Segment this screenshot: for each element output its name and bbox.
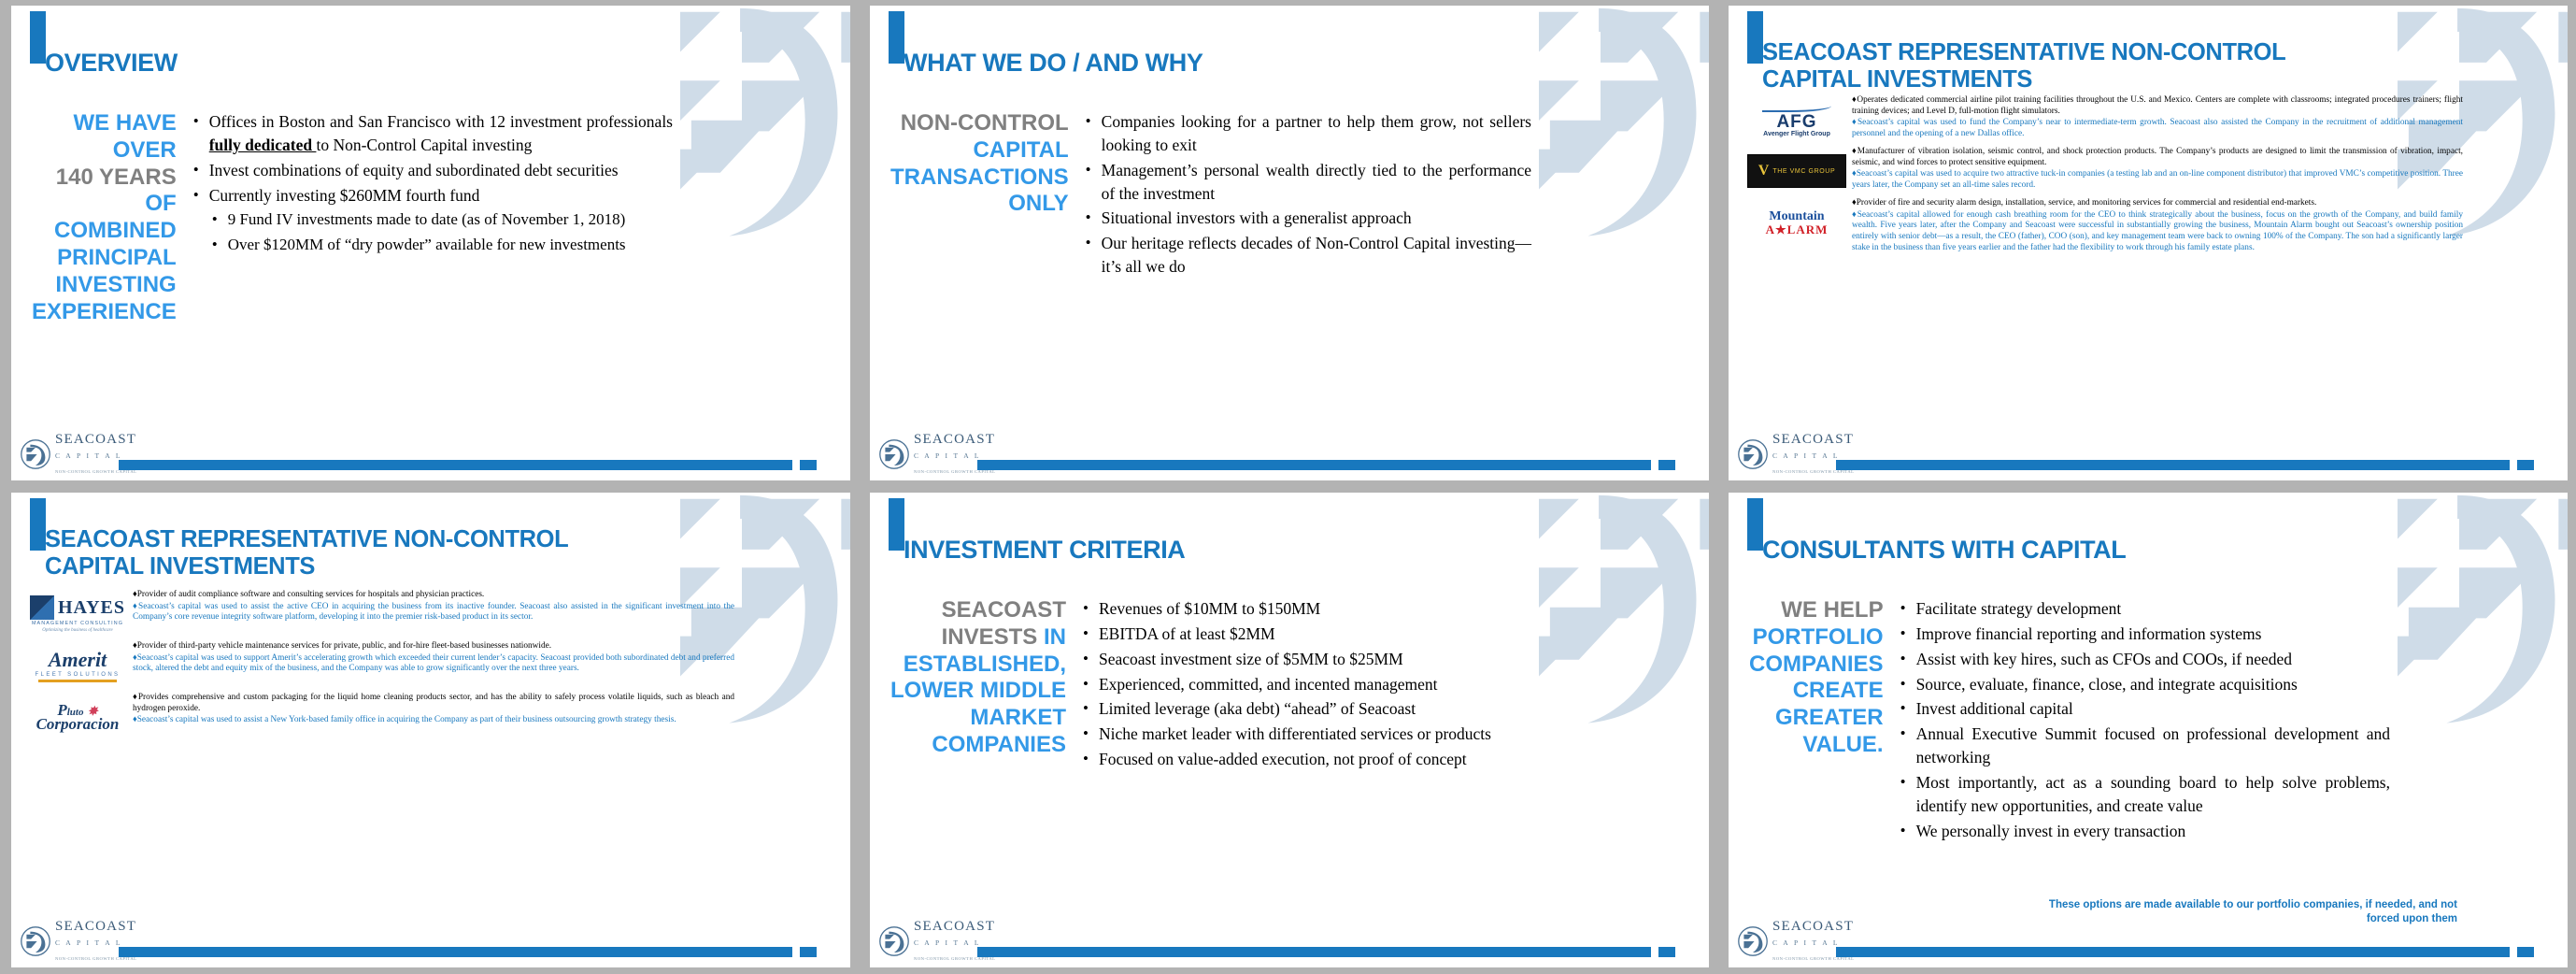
slide-callout: WE HELPPORTFOLIOCOMPANIESCREATEGREATERVA… bbox=[1749, 597, 1894, 759]
bullet-item: Niche market leader with differentiated … bbox=[1099, 723, 1531, 746]
logo-subtitle: C A P I T A L bbox=[55, 451, 122, 460]
afg-logo: AFGAvenger Flight Group bbox=[1742, 95, 1852, 144]
slide-thumbnail-3[interactable]: SEACOAST REPRESENTATIVE NON-CONTROL CAPI… bbox=[1717, 0, 2576, 487]
footer-blue-bar bbox=[119, 460, 792, 470]
footer-blue-bar bbox=[977, 947, 1651, 957]
callout-line: CREATE bbox=[1749, 678, 1884, 705]
title-accent-bar bbox=[1747, 498, 1763, 551]
bullet-item: Source, evaluate, finance, close, and in… bbox=[1916, 673, 2390, 696]
bullet-item: Our heritage reflects decades of Non-Con… bbox=[1102, 232, 1531, 279]
slide-footnote: These options are made available to our … bbox=[2046, 898, 2457, 926]
bullet-item: Invest additional capital bbox=[1916, 697, 2390, 721]
callout-line: PORTFOLIO bbox=[1749, 624, 1884, 652]
callout-line: WE HELP bbox=[1749, 597, 1884, 624]
footer-blue-square bbox=[2517, 947, 2534, 957]
slide-bullets: Facilitate strategy developmentImprove f… bbox=[1894, 597, 2390, 844]
portfolio-row: AmeritFLEET SOLUTIONSProvider of third-p… bbox=[22, 641, 734, 690]
portfolio-list: HAYESMANAGEMENT CONSULTINGOptimizing the… bbox=[22, 590, 734, 926]
title-accent-bar bbox=[889, 11, 904, 64]
seacoast-watermark-icon bbox=[2398, 493, 2568, 967]
slide-callout: WE HAVEOVER140 YEARSOFCOMBINEDPRINCIPALI… bbox=[32, 110, 187, 325]
footer-blue-square bbox=[800, 947, 817, 957]
slide-surface: INVESTMENT CRITERIASEACOASTINVESTS INEST… bbox=[870, 493, 1709, 967]
callout-line: NON-CONTROL bbox=[890, 110, 1069, 137]
logo-name: SEACOAST bbox=[914, 432, 995, 447]
portfolio-text: Manufacturer of vibration isolation, sei… bbox=[1852, 147, 2463, 193]
bullet-list: Revenues of $10MM to $150MMEBITDA of at … bbox=[1080, 597, 1531, 771]
slide-thumbnail-1[interactable]: OVERVIEWWE HAVEOVER140 YEARSOFCOMBINEDPR… bbox=[0, 0, 859, 487]
portfolio-text: Provider of fire and security alarm desi… bbox=[1852, 198, 2463, 255]
seacoast-watermark-icon bbox=[1539, 6, 1709, 480]
bullet-item: Limited leverage (aka debt) “ahead” of S… bbox=[1099, 697, 1531, 721]
callout-line: INVESTS IN bbox=[890, 624, 1066, 652]
footer-blue-bar bbox=[1836, 460, 2510, 470]
logo-subtitle: C A P I T A L bbox=[914, 451, 981, 460]
callout-line: VALUE. bbox=[1749, 732, 1884, 759]
bullet-item: Facilitate strategy development bbox=[1916, 597, 2390, 621]
slide-callout: SEACOASTINVESTS INESTABLISHED,LOWER MIDD… bbox=[890, 597, 1076, 759]
slide-bullets: Revenues of $10MM to $150MMEBITDA of at … bbox=[1076, 597, 1531, 773]
callout-line: ESTABLISHED, bbox=[890, 652, 1066, 679]
slide-title: INVESTMENT CRITERIA bbox=[904, 536, 1520, 564]
seacoast-watermark-icon bbox=[1539, 493, 1709, 967]
bullet-item: Annual Executive Summit focused on profe… bbox=[1916, 723, 2390, 769]
callout-line: INVESTING bbox=[32, 272, 177, 299]
callout-line: TRANSACTIONS bbox=[890, 165, 1069, 192]
bullet-list: Offices in Boston and San Francisco with… bbox=[191, 110, 673, 256]
slide-body: NON-CONTROLCAPITALTRANSACTIONSONLYCompan… bbox=[890, 110, 1531, 437]
portfolio-text: Operates dedicated commercial airline pi… bbox=[1852, 95, 2463, 141]
bullet-item: Experienced, committed, and incented man… bbox=[1099, 673, 1531, 696]
slide-footer: SEACOASTC A P I T A LNON-CONTROL GROWTH … bbox=[11, 930, 850, 967]
sub-bullet-list: 9 Fund IV investments made to date (as o… bbox=[209, 208, 673, 255]
bullet-item: Revenues of $10MM to $150MM bbox=[1099, 597, 1531, 621]
slide-deck-grid: OVERVIEWWE HAVEOVER140 YEARSOFCOMBINEDPR… bbox=[0, 0, 2576, 974]
title-accent-bar bbox=[1747, 11, 1763, 64]
pluto-logo: Pluto ✸Corporacion bbox=[22, 693, 133, 741]
slide-footer: SEACOASTC A P I T A LNON-CONTROL GROWTH … bbox=[1729, 443, 2568, 480]
callout-line: COMPANIES bbox=[890, 732, 1066, 759]
bullet-item: Seacoast investment size of $5MM to $25M… bbox=[1099, 648, 1531, 671]
portfolio-note: Seacoast’s capital was used to fund the … bbox=[1852, 118, 2463, 139]
seacoast-swoosh-icon bbox=[879, 926, 909, 956]
amerit-logo: AmeritFLEET SOLUTIONS bbox=[22, 641, 133, 690]
slide-surface: SEACOAST REPRESENTATIVE NON-CONTROL CAPI… bbox=[11, 493, 850, 967]
logo-subtitle: C A P I T A L bbox=[914, 938, 981, 947]
callout-line: OF bbox=[32, 191, 177, 218]
callout-line: CAPITAL bbox=[890, 137, 1069, 165]
callout-line: 140 YEARS bbox=[32, 165, 177, 192]
portfolio-note: Seacoast’s capital was used to assist a … bbox=[133, 715, 734, 726]
footer-blue-square bbox=[1658, 947, 1675, 957]
logo-subtitle: C A P I T A L bbox=[1772, 451, 1840, 460]
seacoast-watermark-icon bbox=[680, 6, 850, 480]
bullet-item: Focused on value-added execution, not pr… bbox=[1099, 748, 1531, 771]
slide-footer: SEACOASTC A P I T A LNON-CONTROL GROWTH … bbox=[1729, 930, 2568, 967]
callout-line: EXPERIENCE bbox=[32, 299, 177, 326]
callout-line: ONLY bbox=[890, 191, 1069, 218]
slide-body: WE HAVEOVER140 YEARSOFCOMBINEDPRINCIPALI… bbox=[32, 110, 673, 437]
slide-surface: OVERVIEWWE HAVEOVER140 YEARSOFCOMBINEDPR… bbox=[11, 6, 850, 480]
portfolio-list: AFGAvenger Flight GroupOperates dedicate… bbox=[1742, 95, 2463, 439]
seacoast-swoosh-icon bbox=[1738, 439, 1768, 469]
logo-name: SEACOAST bbox=[55, 432, 136, 447]
bullet-item: Management’s personal wealth directly ti… bbox=[1102, 159, 1531, 206]
logo-name: SEACOAST bbox=[55, 919, 136, 934]
logo-name: SEACOAST bbox=[914, 919, 995, 934]
logo-subtitle: C A P I T A L bbox=[55, 938, 122, 947]
portfolio-row: AFGAvenger Flight GroupOperates dedicate… bbox=[1742, 95, 2463, 144]
seacoast-swoosh-icon bbox=[21, 926, 50, 956]
slide-bullets: Companies looking for a partner to help … bbox=[1079, 110, 1531, 280]
footer-blue-bar bbox=[977, 460, 1651, 470]
slide-surface: SEACOAST REPRESENTATIVE NON-CONTROL CAPI… bbox=[1729, 6, 2568, 480]
portfolio-description: Operates dedicated commercial airline pi… bbox=[1852, 95, 2463, 117]
portfolio-text: Provider of audit compliance software an… bbox=[133, 590, 734, 624]
seacoast-swoosh-icon bbox=[1738, 926, 1768, 956]
title-accent-bar bbox=[30, 498, 46, 551]
footer-blue-bar bbox=[119, 947, 792, 957]
slide-bullets: Offices in Boston and San Francisco with… bbox=[187, 110, 673, 258]
portfolio-text: Provides comprehensive and custom packag… bbox=[133, 693, 734, 727]
sub-bullet-item: 9 Fund IV investments made to date (as o… bbox=[228, 208, 673, 231]
footer-blue-square bbox=[2517, 460, 2534, 470]
slide-title: OVERVIEW bbox=[45, 49, 662, 77]
bullet-item: We personally invest in every transactio… bbox=[1916, 820, 2390, 843]
bullet-item: Offices in Boston and San Francisco with… bbox=[209, 110, 673, 157]
portfolio-description: Manufacturer of vibration isolation, sei… bbox=[1852, 147, 2463, 168]
footer-blue-square bbox=[800, 460, 817, 470]
bullet-item: Situational investors with a generalist … bbox=[1102, 207, 1531, 230]
portfolio-description: Provides comprehensive and custom packag… bbox=[133, 693, 734, 714]
slide-title: SEACOAST REPRESENTATIVE NON-CONTROL CAPI… bbox=[1762, 39, 2435, 93]
bullet-item: Currently investing $260MM fourth fund9 … bbox=[209, 184, 673, 256]
slide-title: SEACOAST REPRESENTATIVE NON-CONTROL CAPI… bbox=[45, 526, 718, 580]
vmc-logo: VTHE VMC GROUP bbox=[1742, 147, 1852, 195]
slide-title: WHAT WE DO / AND WHY bbox=[904, 49, 1520, 77]
portfolio-description: Provider of fire and security alarm desi… bbox=[1852, 198, 2463, 209]
slide-body: SEACOASTINVESTS INESTABLISHED,LOWER MIDD… bbox=[890, 597, 1531, 924]
hayes-logo: HAYESMANAGEMENT CONSULTINGOptimizing the… bbox=[22, 590, 133, 638]
callout-line: OVER bbox=[32, 137, 177, 165]
callout-line: COMBINED bbox=[32, 218, 177, 245]
callout-line: WE HAVE bbox=[32, 110, 177, 137]
bullet-list: Companies looking for a partner to help … bbox=[1083, 110, 1531, 279]
callout-line: LOWER MIDDLE bbox=[890, 678, 1066, 705]
bullet-item: EBITDA of at least $2MM bbox=[1099, 623, 1531, 646]
seacoast-swoosh-icon bbox=[21, 439, 50, 469]
portfolio-note: Seacoast’s capital was used to support A… bbox=[133, 653, 734, 675]
sub-bullet-item: Over $120MM of “dry powder” available fo… bbox=[228, 234, 673, 256]
callout-line: SEACOAST bbox=[890, 597, 1066, 624]
portfolio-note: Seacoast’s capital was used to acquire t… bbox=[1852, 169, 2463, 191]
portfolio-row: HAYESMANAGEMENT CONSULTINGOptimizing the… bbox=[22, 590, 734, 638]
portfolio-note: Seacoast’s capital was used to assist th… bbox=[133, 602, 734, 623]
slide-surface: WHAT WE DO / AND WHYNON-CONTROLCAPITALTR… bbox=[870, 6, 1709, 480]
seacoast-swoosh-icon bbox=[879, 439, 909, 469]
callout-line: GREATER bbox=[1749, 705, 1884, 732]
slide-callout: NON-CONTROLCAPITALTRANSACTIONSONLY bbox=[890, 110, 1079, 218]
slide-surface: CONSULTANTS WITH CAPITALWE HELPPORTFOLIO… bbox=[1729, 493, 2568, 967]
slide-thumbnail-6[interactable]: CONSULTANTS WITH CAPITALWE HELPPORTFOLIO… bbox=[1717, 487, 2576, 974]
slide-body: WE HELPPORTFOLIOCOMPANIESCREATEGREATERVA… bbox=[1749, 597, 2390, 924]
logo-subtitle: C A P I T A L bbox=[1772, 938, 1840, 947]
slide-title: CONSULTANTS WITH CAPITAL bbox=[1762, 536, 2379, 564]
callout-line: PRINCIPAL bbox=[32, 245, 177, 272]
bullet-item: Invest combinations of equity and subord… bbox=[209, 159, 673, 182]
slide-footer: SEACOASTC A P I T A LNON-CONTROL GROWTH … bbox=[870, 443, 1709, 480]
bullet-list: Facilitate strategy developmentImprove f… bbox=[1898, 597, 2390, 842]
bullet-item: Improve financial reporting and informat… bbox=[1916, 623, 2390, 646]
bullet-item: Companies looking for a partner to help … bbox=[1102, 110, 1531, 157]
slide-footer: SEACOASTC A P I T A LNON-CONTROL GROWTH … bbox=[870, 930, 1709, 967]
logo-name: SEACOAST bbox=[1772, 919, 1854, 934]
slide-thumbnail-4[interactable]: SEACOAST REPRESENTATIVE NON-CONTROL CAPI… bbox=[0, 487, 859, 974]
slide-thumbnail-5[interactable]: INVESTMENT CRITERIASEACOASTINVESTS INEST… bbox=[859, 487, 1717, 974]
portfolio-row: MountainA★LARMProvider of fire and secur… bbox=[1742, 198, 2463, 255]
callout-line: COMPANIES bbox=[1749, 652, 1884, 679]
title-accent-bar bbox=[889, 498, 904, 551]
footer-blue-bar bbox=[1836, 947, 2510, 957]
logo-name: SEACOAST bbox=[1772, 432, 1854, 447]
portfolio-text: Provider of third-party vehicle maintena… bbox=[133, 641, 734, 676]
portfolio-description: Provider of audit compliance software an… bbox=[133, 590, 734, 601]
slide-footer: SEACOASTC A P I T A LNON-CONTROL GROWTH … bbox=[11, 443, 850, 480]
bullet-item: Most importantly, act as a sounding boar… bbox=[1916, 771, 2390, 818]
mountain-alarm-logo: MountainA★LARM bbox=[1742, 198, 1852, 247]
portfolio-description: Provider of third-party vehicle maintena… bbox=[133, 641, 734, 652]
callout-line: MARKET bbox=[890, 705, 1066, 732]
portfolio-row: Pluto ✸CorporacionProvides comprehensive… bbox=[22, 693, 734, 741]
portfolio-row: VTHE VMC GROUPManufacturer of vibration … bbox=[1742, 147, 2463, 195]
bullet-item: Assist with key hires, such as CFOs and … bbox=[1916, 648, 2390, 671]
footer-blue-square bbox=[1658, 460, 1675, 470]
title-accent-bar bbox=[30, 11, 46, 64]
portfolio-note: Seacoast’s capital allowed for enough ca… bbox=[1852, 210, 2463, 254]
slide-thumbnail-2[interactable]: WHAT WE DO / AND WHYNON-CONTROLCAPITALTR… bbox=[859, 0, 1717, 487]
